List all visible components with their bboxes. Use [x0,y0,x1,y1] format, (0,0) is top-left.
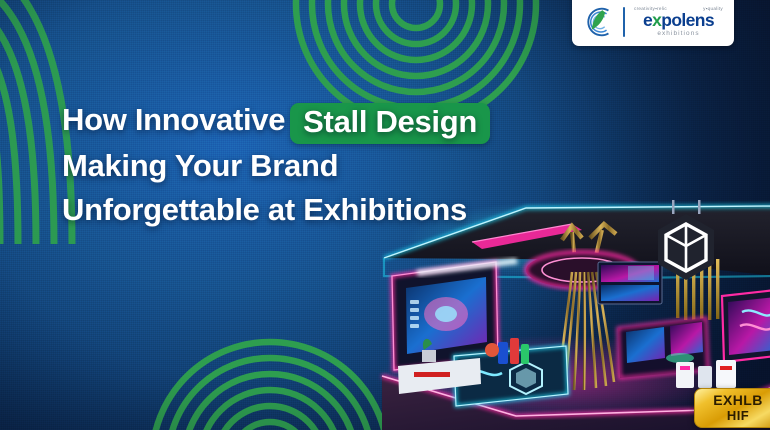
badge-line-1: EXHLB [713,393,762,408]
logo-word-suffix: polens [661,10,714,30]
headline-line-1: How InnovativeStall Design [62,98,582,144]
marketing-banner: creativity▪relic у▪quality expolens exhi… [0,0,770,430]
badge-line-2: HIF [727,408,749,423]
corner-gold-badge: EXHLB HIF [694,388,770,428]
logo-wordmark: creativity▪relic у▪quality expolens exhi… [631,7,726,38]
logo-divider [623,7,625,37]
logo-word-prefix: e [643,10,652,30]
logo-subtitle: exhibitions [657,31,699,37]
expolens-c-leaf-mark [579,3,617,41]
headline: How InnovativeStall Design Making Your B… [62,98,582,232]
brand-logo-panel[interactable]: creativity▪relic у▪quality expolens exhi… [572,0,734,46]
decoration-bottom-left-rings [140,330,370,430]
headline-line-1-text: How Innovative [62,102,285,137]
headline-line-3: Unforgettable at Exhibitions [62,188,582,232]
logo-word: expolens [643,12,714,30]
headline-highlight-pill: Stall Design [290,103,490,144]
logo-word-x: x [652,10,661,30]
headline-line-2: Making Your Brand [62,144,582,188]
